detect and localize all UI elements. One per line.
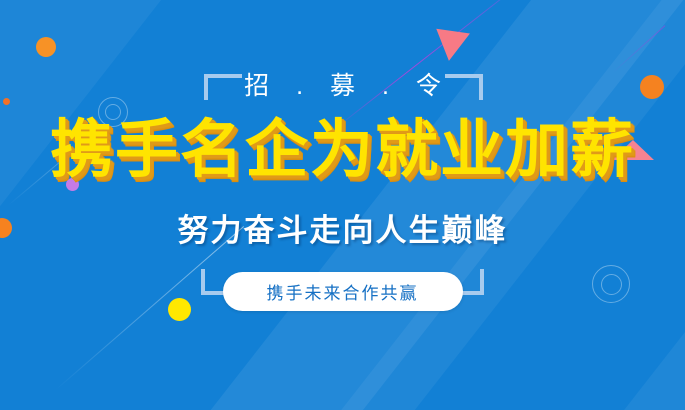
bracket-line-vertical	[480, 269, 484, 295]
page-title: 携手名企为就业加薪	[0, 117, 685, 183]
pink-triangle-down	[432, 29, 470, 63]
bracket-line-vertical	[201, 269, 205, 295]
white-diagonal-streak	[55, 226, 244, 391]
eyebrow-text: 招 . 募 . 令	[0, 66, 685, 102]
orange-dot-top-left	[36, 37, 56, 57]
subtitle-text: 努力奋斗走向人生巅峰	[0, 205, 685, 250]
ring-bottom-right	[601, 274, 622, 295]
cta-button[interactable]: 携手未来合作共赢	[223, 272, 463, 311]
recruitment-banner: 招 . 募 . 令 携手名企为就业加薪 努力奋斗走向人生巅峰 携手未来合作共赢	[0, 0, 685, 410]
yellow-dot-bottom-left	[168, 298, 191, 321]
